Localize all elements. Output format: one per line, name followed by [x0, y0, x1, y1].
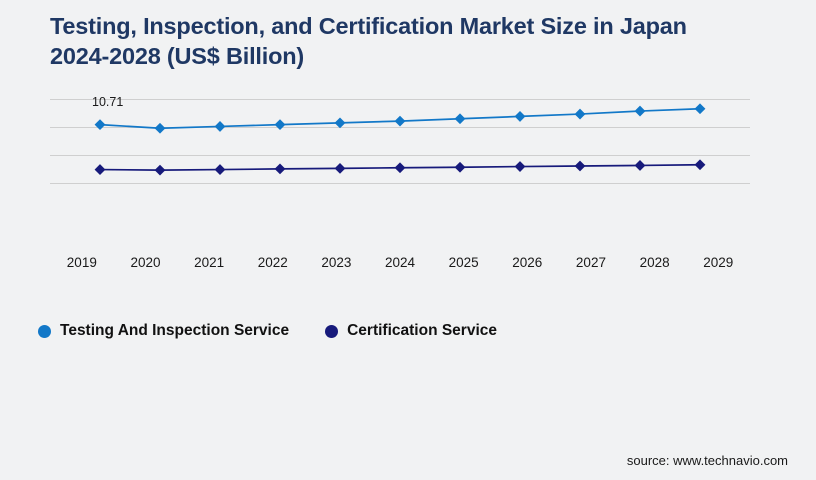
- data-point-certification-service-2020[interactable]: [155, 165, 166, 176]
- data-label-first-point: 10.71: [92, 95, 123, 109]
- x-axis-tick-2027: 2027: [559, 255, 623, 277]
- data-point-certification-service-2023[interactable]: [335, 163, 346, 174]
- data-point-certification-service-2029[interactable]: [695, 159, 706, 170]
- data-point-testing-and-inspection-service-2022[interactable]: [275, 119, 286, 130]
- data-point-testing-and-inspection-service-2029[interactable]: [695, 103, 706, 114]
- chart-title-line-1: Testing, Inspection, and Certification M…: [50, 12, 770, 42]
- x-axis-tick-2020: 2020: [114, 255, 178, 277]
- data-point-certification-service-2028[interactable]: [635, 160, 646, 171]
- legend-item-testing-and-inspection-service[interactable]: Testing And Inspection Service: [38, 322, 289, 340]
- x-axis-tick-2026: 2026: [495, 255, 559, 277]
- data-point-certification-service-2019[interactable]: [95, 164, 106, 175]
- chart-container: Testing, Inspection, and Certification M…: [0, 0, 816, 480]
- x-axis-tick-2019: 2019: [50, 255, 114, 277]
- x-axis-tick-2022: 2022: [241, 255, 305, 277]
- data-point-certification-service-2021[interactable]: [215, 164, 226, 175]
- data-point-testing-and-inspection-service-2019[interactable]: [95, 119, 106, 130]
- chart-title: Testing, Inspection, and Certification M…: [50, 12, 770, 72]
- data-point-certification-service-2026[interactable]: [515, 161, 526, 172]
- x-axis-tick-2025: 2025: [432, 255, 496, 277]
- data-point-testing-and-inspection-service-2020[interactable]: [155, 123, 166, 134]
- data-point-certification-service-2025[interactable]: [455, 162, 466, 173]
- x-axis-tick-2029: 2029: [686, 255, 750, 277]
- legend-item-label: Certification Service: [347, 322, 497, 340]
- x-axis-tick-2024: 2024: [368, 255, 432, 277]
- markers-certification-service: [95, 159, 706, 175]
- data-point-testing-and-inspection-service-2027[interactable]: [575, 109, 586, 120]
- chart-legend: Testing And Inspection Service Certifica…: [38, 322, 497, 340]
- data-point-testing-and-inspection-service-2024[interactable]: [395, 116, 406, 127]
- x-axis-tick-labels: 2019202020212022202320242025202620272028…: [50, 255, 750, 277]
- data-point-testing-and-inspection-service-2023[interactable]: [335, 117, 346, 128]
- data-point-testing-and-inspection-service-2025[interactable]: [455, 113, 466, 124]
- data-point-certification-service-2027[interactable]: [575, 161, 586, 172]
- series-plot: [50, 88, 750, 244]
- legend-swatch-icon: [38, 325, 51, 338]
- source-note: source: www.technavio.com: [627, 453, 788, 468]
- legend-item-label: Testing And Inspection Service: [60, 322, 289, 340]
- x-axis-tick-2028: 2028: [623, 255, 687, 277]
- plot-area: 10.71: [50, 88, 750, 244]
- chart-title-line-2: 2024-2028 (US$ Billion): [50, 42, 770, 72]
- data-point-certification-service-2024[interactable]: [395, 162, 406, 173]
- data-point-testing-and-inspection-service-2021[interactable]: [215, 121, 226, 132]
- x-axis-tick-2021: 2021: [177, 255, 241, 277]
- data-point-testing-and-inspection-service-2028[interactable]: [635, 106, 646, 117]
- x-axis-tick-2023: 2023: [305, 255, 369, 277]
- data-point-testing-and-inspection-service-2026[interactable]: [515, 111, 526, 122]
- data-point-certification-service-2022[interactable]: [275, 163, 286, 174]
- legend-item-certification-service[interactable]: Certification Service: [325, 322, 497, 340]
- markers-testing-and-inspection-service: [95, 103, 706, 133]
- legend-swatch-icon: [325, 325, 338, 338]
